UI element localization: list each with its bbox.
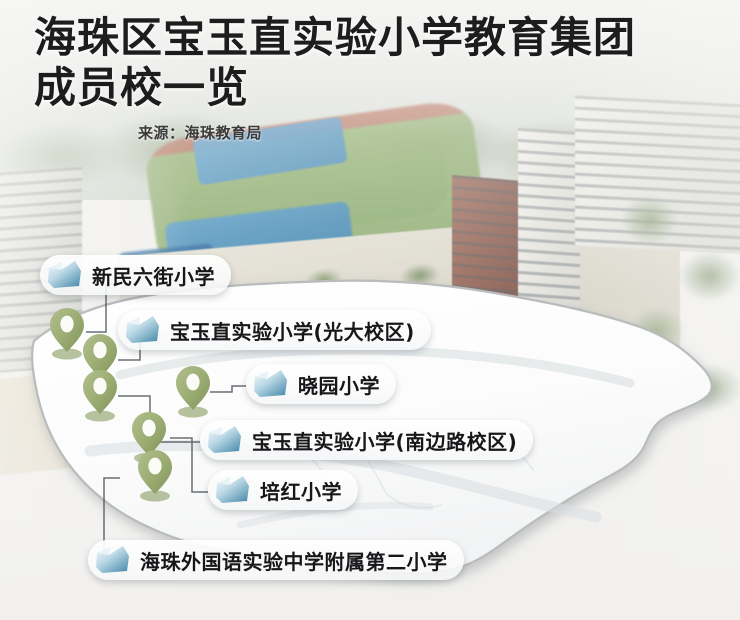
flag-banner-icon: [206, 424, 244, 456]
map-pin-icon[interactable]: [79, 366, 121, 424]
school-callout[interactable]: 宝玉直实验小学(光大校区): [118, 310, 431, 350]
school-name: 培红小学: [260, 476, 342, 505]
flag-banner-icon: [94, 544, 132, 576]
source-credit: 来源：海珠教育局: [138, 122, 724, 143]
infographic-poster: 海珠区宝玉直实验小学教育集团 成员校一览 来源：海珠教育局: [0, 0, 740, 620]
school-name: 海珠外国语实验中学附属第二小学: [140, 546, 448, 575]
map-pin-icon[interactable]: [172, 362, 214, 420]
page-title-line-1: 海珠区宝玉直实验小学教育集团: [34, 14, 724, 64]
school-name: 新民六街小学: [92, 261, 215, 290]
flag-banner-icon: [214, 474, 252, 506]
map-pin-icon[interactable]: [134, 446, 176, 504]
page-title-line-2: 成员校一览: [34, 64, 724, 114]
school-name: 晓园小学: [298, 370, 380, 399]
school-callout[interactable]: 晓园小学: [246, 364, 396, 404]
flag-banner-icon: [124, 314, 162, 346]
school-callout[interactable]: 海珠外国语实验中学附属第二小学: [88, 540, 464, 580]
title-block: 海珠区宝玉直实验小学教育集团 成员校一览 来源：海珠教育局: [34, 14, 724, 143]
school-name: 宝玉直实验小学(南边路校区): [252, 426, 517, 455]
school-name: 宝玉直实验小学(光大校区): [170, 316, 415, 345]
school-callout[interactable]: 培红小学: [208, 470, 358, 510]
flag-banner-icon: [252, 368, 290, 400]
school-callout[interactable]: 新民六街小学: [40, 255, 231, 295]
school-callout[interactable]: 宝玉直实验小学(南边路校区): [200, 420, 533, 460]
flag-banner-icon: [46, 259, 84, 291]
